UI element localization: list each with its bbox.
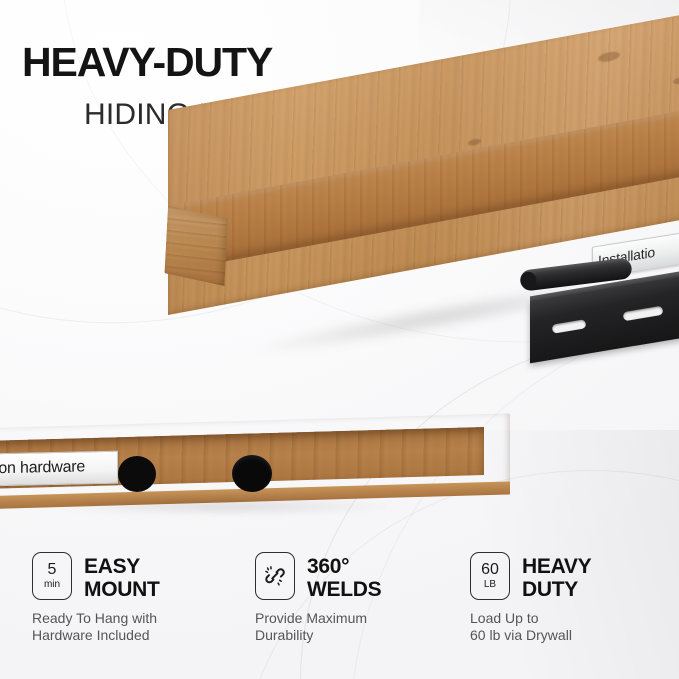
feature-description: Load Up to 60 lb via Drywall: [470, 610, 591, 644]
feature-title-line2: MOUNT: [84, 578, 160, 601]
feature-360-welds: 360° WELDS Provide Maximum Durability: [255, 552, 381, 644]
wood-knot: [468, 138, 481, 146]
product-marketing-image: HEAVY-DUTY HIDING BRACKET/ACCESSORY Inst…: [0, 0, 679, 679]
wood-knot: [673, 75, 679, 85]
feature-header: 60 LB HEAVY DUTY: [470, 552, 591, 601]
feature-title-line2: WELDS: [307, 578, 381, 601]
feature-description-line2: 60 lb via Drywall: [470, 627, 591, 644]
hero-product-photo: [0, 110, 679, 400]
feature-list: 5 min EASY MOUNT Ready To Hang with Hard…: [0, 552, 679, 662]
feature-description-line1: Ready To Hang with: [32, 610, 160, 627]
installation-label-lower: ion hardware: [0, 451, 118, 487]
feature-easy-mount: 5 min EASY MOUNT Ready To Hang with Hard…: [32, 552, 160, 644]
timer-badge-unit: min: [44, 579, 60, 591]
installation-label-lower-text: ion hardware: [0, 452, 117, 484]
weight-badge-unit: LB: [484, 579, 496, 591]
feature-title-line2: DUTY: [522, 578, 591, 601]
shelf-bracket-hole: [232, 455, 272, 492]
wood-knot: [598, 50, 620, 63]
feature-description-line2: Durability: [255, 627, 381, 644]
feature-description-line2: Hardware Included: [32, 627, 160, 644]
feature-description: Ready To Hang with Hardware Included: [32, 610, 160, 644]
weight-badge-value: 60: [481, 561, 499, 578]
feature-title-line1: HEAVY: [522, 555, 591, 578]
feature-header: 5 min EASY MOUNT: [32, 552, 160, 601]
feature-title: EASY MOUNT: [84, 552, 160, 601]
page-title: HEAVY-DUTY: [22, 39, 272, 85]
feature-description-line1: Load Up to: [470, 610, 591, 627]
feature-description: Provide Maximum Durability: [255, 610, 381, 644]
feature-description-line1: Provide Maximum: [255, 610, 381, 627]
lower-shelf-shadow: [10, 500, 490, 518]
feature-heavy-duty: 60 LB HEAVY DUTY Load Up to 60 lb via Dr…: [470, 552, 591, 644]
shelf-end-cap: [164, 206, 228, 286]
chain-link-icon: [255, 552, 295, 600]
chain-link-glyph: [256, 553, 294, 599]
feature-header: 360° WELDS: [255, 552, 381, 601]
feature-title: 360° WELDS: [307, 552, 381, 601]
feature-title: HEAVY DUTY: [522, 552, 591, 601]
feature-title-line1: EASY: [84, 555, 160, 578]
feature-title-line1: 360°: [307, 555, 381, 578]
weight-badge-icon: 60 LB: [470, 552, 510, 600]
timer-badge-icon: 5 min: [32, 552, 72, 600]
timer-badge-value: 5: [48, 561, 57, 578]
shelf-bracket-slot: [118, 456, 156, 492]
